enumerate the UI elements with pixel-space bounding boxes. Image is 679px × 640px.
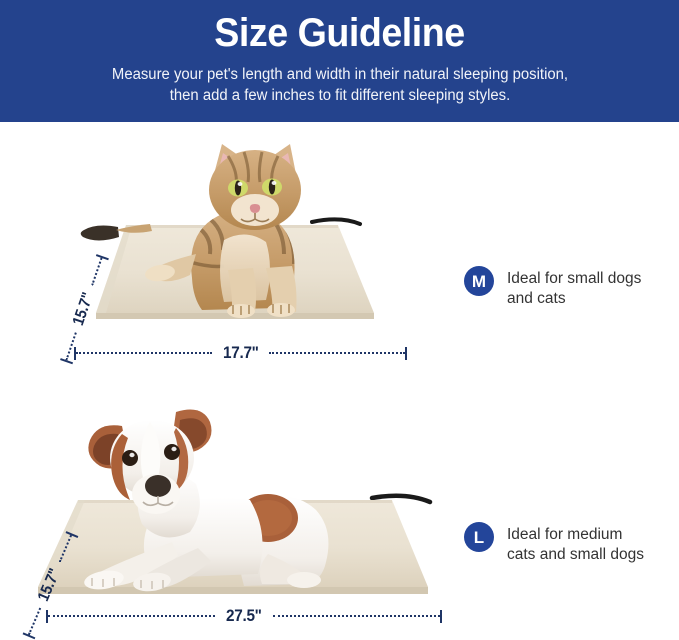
cat-on-mat-illustration [0, 130, 440, 345]
dimension-line-segment [273, 615, 440, 617]
size-note-line-1: Ideal for small dogs [507, 269, 641, 289]
size-note-line-2: cats and small dogs [507, 545, 644, 565]
product-row-medium: 15.7" 17.7" M Ideal for small dogs and c… [0, 130, 679, 375]
size-note-large: L Ideal for medium cats and small dogs [464, 522, 644, 565]
size-note-line-2: and cats [507, 289, 641, 309]
size-badge-medium: M [464, 266, 494, 296]
product-photo-medium [0, 130, 440, 350]
dimension-line-segment [48, 615, 215, 617]
size-note-text-large: Ideal for medium cats and small dogs [507, 522, 644, 565]
size-note-text-medium: Ideal for small dogs and cats [507, 266, 641, 309]
power-cord-icon [312, 219, 360, 224]
product-row-large: 15.7" 27.5" L Ideal for medium cats and … [0, 382, 679, 628]
product-photo-large [0, 382, 460, 617]
page-title: Size Guideline [20, 8, 658, 58]
dimension-cap-end [440, 610, 442, 623]
dimension-width-label: 17.7" [215, 343, 267, 363]
size-note-medium: M Ideal for small dogs and cats [464, 266, 641, 309]
dog-on-mat-illustration [0, 382, 460, 612]
banner-subtitle-line-2: then add a few inches to fit different s… [52, 85, 628, 106]
header-banner: Size Guideline Measure your pet's length… [0, 0, 679, 122]
cat-tail [81, 226, 119, 241]
dimension-line-segment [28, 607, 41, 635]
dimension-width-label: 27.5" [218, 606, 270, 626]
dimension-width-medium: 17.7" [74, 346, 407, 360]
banner-subtitle: Measure your pet's length and width in t… [52, 64, 628, 106]
dimension-width-large: 27.5" [46, 609, 442, 623]
dimension-line-segment [76, 352, 212, 354]
size-badge-large: L [464, 522, 494, 552]
banner-subtitle-line-1: Measure your pet's length and width in t… [52, 64, 628, 85]
cat-head [209, 144, 301, 230]
size-note-line-1: Ideal for medium [507, 525, 644, 545]
dimension-line-segment [269, 352, 405, 354]
dimension-cap-end [405, 347, 407, 360]
